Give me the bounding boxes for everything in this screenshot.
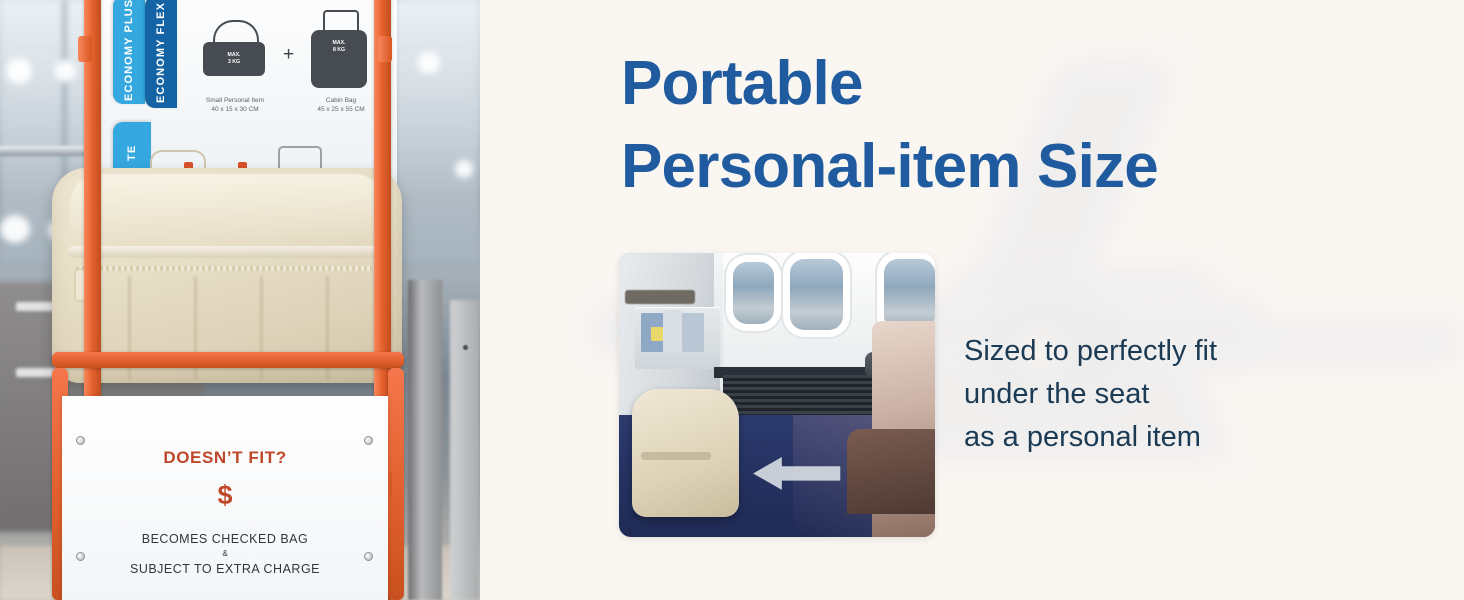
left-photo-bag-sizer: ECONOMY PLUS ECONOMY FLEX MAX. 3 KG + MA… [0, 0, 480, 600]
seat-pocket-card [651, 327, 664, 341]
banner: ECONOMY PLUS ECONOMY FLEX MAX. 3 KG + MA… [0, 0, 1464, 600]
sizer-crossbar [52, 352, 404, 368]
right-content-panel: Portable Personal-item Size [480, 0, 1464, 600]
body-copy: Sized to perfectly fit under the seat as… [964, 330, 1217, 459]
seat-pocket-magazine [682, 313, 704, 353]
cabin-window [884, 259, 935, 330]
sign-screw [76, 436, 85, 445]
cabin-tray-table [625, 290, 695, 304]
cabin-window [733, 262, 774, 324]
page-title: Portable Personal-item Size [621, 42, 1158, 208]
doesnt-fit-sign: DOESN’T FIT? $ BECOMES CHECKED BAG & SUB… [62, 396, 388, 600]
seat-pocket-magazine [663, 310, 682, 353]
ampersand-text: & [62, 549, 388, 558]
extra-charge-text: SUBJECT TO EXTRA CHARGE [62, 562, 388, 576]
becomes-checked-bag-text: BECOMES CHECKED BAG [62, 532, 388, 546]
dollar-symbol: $ [62, 480, 388, 511]
doesnt-fit-headline: DOESN’T FIT? [62, 448, 388, 468]
cabin-seat-cushion [847, 429, 935, 514]
sign-screw [364, 436, 373, 445]
arrow-left-icon [742, 455, 846, 492]
sizer-bracket [378, 36, 392, 62]
sizer-bracket [78, 36, 92, 62]
cabin-under-seat-photo [619, 253, 935, 537]
stowed-bag-strap [641, 452, 711, 461]
cabin-window [790, 259, 844, 330]
